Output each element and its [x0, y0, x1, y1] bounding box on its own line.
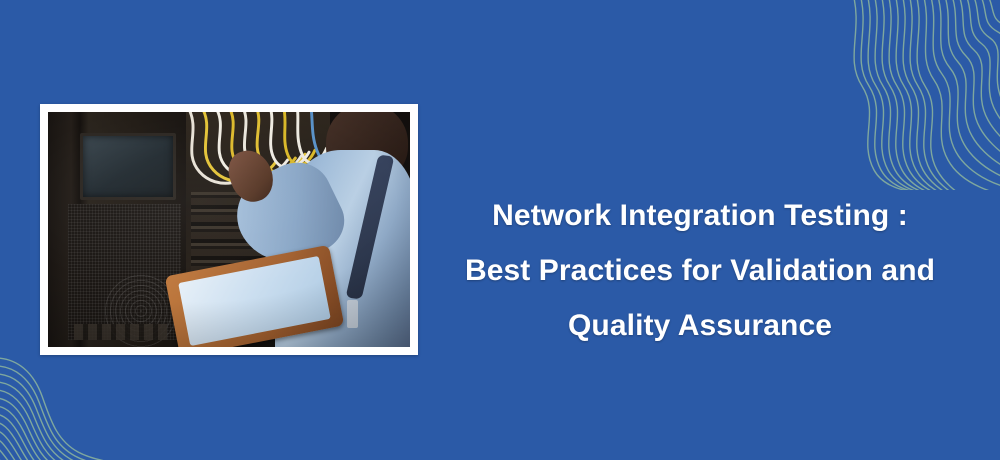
photo-vignette: [48, 112, 410, 347]
page-title-line-1: Network Integration Testing :: [440, 188, 960, 243]
photo-frame: [40, 104, 418, 355]
wavy-contour-lines-top-right-icon: [800, 0, 1000, 190]
server-room-photo: [48, 112, 410, 347]
page-title: Network Integration Testing : Best Pract…: [440, 188, 960, 353]
page-title-line-3: Quality Assurance: [440, 298, 960, 353]
banner-root: Network Integration Testing : Best Pract…: [0, 0, 1000, 460]
page-title-line-2: Best Practices for Validation and: [440, 243, 960, 298]
wavy-contour-lines-bottom-left-icon: [0, 340, 200, 460]
